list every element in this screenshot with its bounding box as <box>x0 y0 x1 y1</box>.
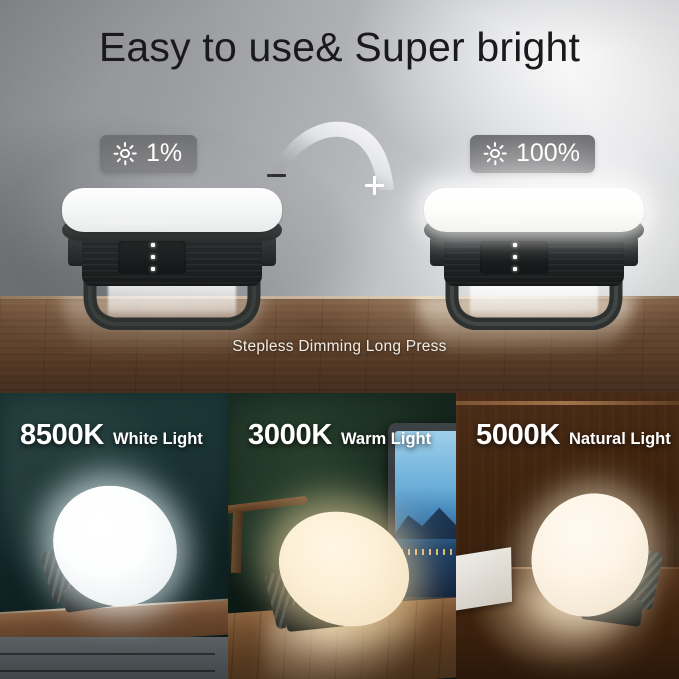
battery-indicator-leds <box>150 243 155 271</box>
led-indicator <box>151 267 155 271</box>
lamp-disc-white <box>46 485 174 611</box>
led-indicator <box>513 243 517 247</box>
lamp-rim-highlight <box>434 221 634 225</box>
lamp-rim-highlight <box>72 221 272 225</box>
color-temperature-panels: 8500K White Light <box>0 393 679 679</box>
hero-scene: Easy to use& Super bright 1% 100% <box>0 0 679 393</box>
led-indicator <box>513 255 517 259</box>
led-indicator <box>151 255 155 259</box>
drawer-seam <box>0 653 215 655</box>
screen-city-lights <box>401 549 456 555</box>
panel-white-light: 8500K White Light <box>0 393 228 679</box>
wall-trim-line <box>456 401 679 405</box>
panel-natural-light: 5000K Natural Light <box>456 393 679 679</box>
label-natural-light: 5000K Natural Light <box>476 419 671 452</box>
dimming-plus-icon <box>365 176 384 195</box>
label-white-light: 8500K White Light <box>20 419 203 452</box>
temperature-value: 5000K <box>476 419 560 452</box>
lamp-disc-natural <box>530 493 658 621</box>
lamp-diffuser-panel <box>62 188 282 232</box>
led-indicator <box>151 243 155 247</box>
lamp-bright <box>418 186 650 334</box>
lamp-disc-warm <box>270 511 406 633</box>
temperature-value: 8500K <box>20 419 104 452</box>
temperature-value: 3000K <box>248 419 332 452</box>
led-indicator <box>513 267 517 271</box>
lamp-diffuser-panel <box>424 188 644 232</box>
temperature-name: Natural Light <box>569 430 671 449</box>
lamp-dim <box>56 186 288 334</box>
drawer-seam <box>0 670 215 672</box>
label-warm-light: 3000K Warm Light <box>248 419 431 452</box>
temperature-name: White Light <box>113 430 203 449</box>
battery-indicator-leds <box>512 243 517 271</box>
panel-warm-light: 3000K Warm Light <box>228 393 456 679</box>
tool-cabinet-drawers <box>0 637 228 679</box>
hero-headline: Easy to use& Super bright <box>0 24 679 71</box>
temperature-name: Warm Light <box>341 430 431 449</box>
dimming-caption: Stepless Dimming Long Press <box>0 338 679 356</box>
product-marketing-image: Easy to use& Super bright 1% 100% <box>0 0 679 679</box>
